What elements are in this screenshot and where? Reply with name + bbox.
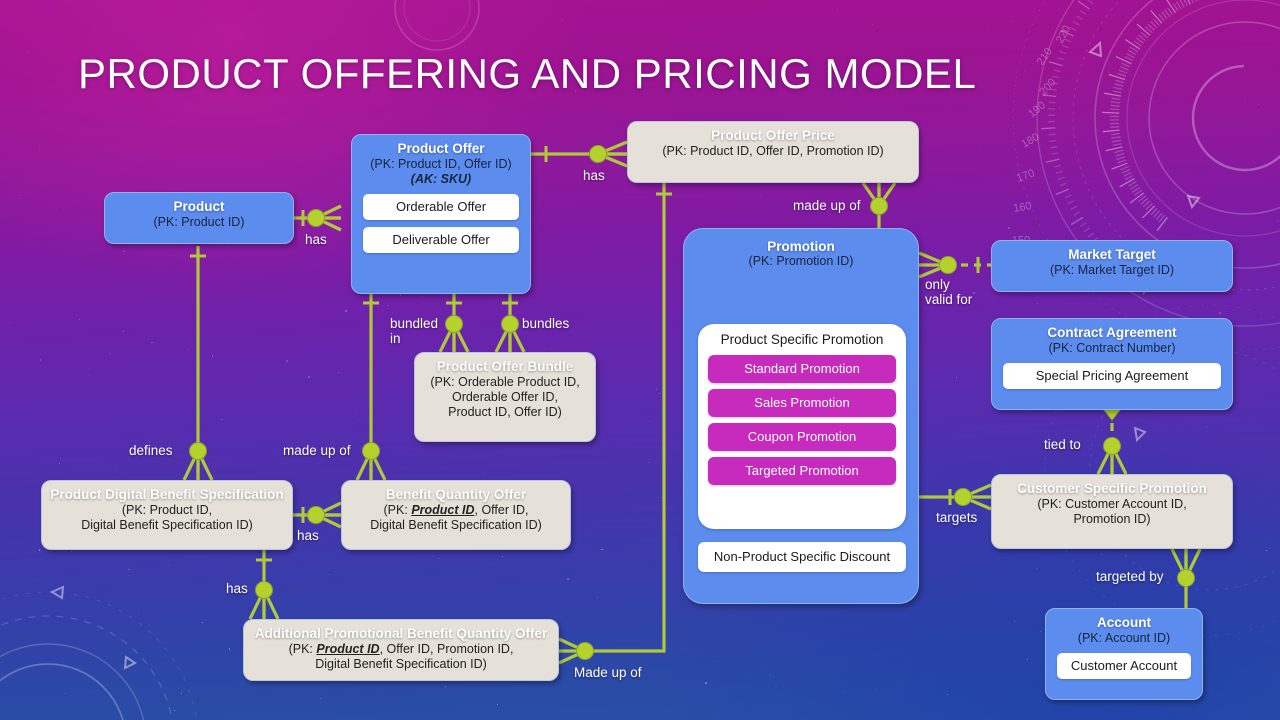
subtype-customer-account[interactable]: Customer Account: [1057, 653, 1191, 679]
product-specific-promotion-title: Product Specific Promotion: [708, 331, 896, 349]
entity-product-offer-bundle[interactable]: Product Offer Bundle (PK: Orderable Prod…: [414, 352, 596, 442]
entity-pdbs-key-2: Digital Benefit Specification ID): [50, 518, 284, 533]
entity-product-offer-price[interactable]: Product Offer Price (PK: Product ID, Off…: [627, 121, 919, 183]
compass-degree-labels: 220 210 200 190 180 170 160 150: [1012, 24, 1074, 247]
entity-customer-specific-promotion-key-1: (PK: Customer Account ID,: [1000, 497, 1224, 512]
entity-contract-agreement-key: (PK: Contract Number): [1003, 341, 1221, 356]
rel-label-offer-made-up-of-bqo: made up of: [283, 443, 351, 458]
entity-product-digital-benefit-specification[interactable]: Product Digital Benefit Specification (P…: [41, 480, 293, 550]
diagram-canvas: 220 210 200 190 180 170 160 150 PRODUCT …: [0, 0, 1280, 720]
entity-product-title: Product: [113, 199, 285, 215]
promo-sales-promotion[interactable]: Sales Promotion: [708, 389, 896, 417]
entity-product-offer-price-title: Product Offer Price: [636, 128, 910, 144]
subtype-deliverable-offer[interactable]: Deliverable Offer: [363, 227, 519, 253]
rel-label-pdbs-has-bqo: has: [297, 528, 319, 543]
entity-customer-specific-promotion[interactable]: Customer Specific Promotion (PK: Custome…: [991, 474, 1233, 549]
rel-label-pdbs-has-apbqo: has: [226, 581, 248, 596]
entity-product-offer-bundle-key-1: (PK: Orderable Product ID,: [423, 375, 587, 390]
rel-label-targeted-by: targeted by: [1096, 569, 1164, 584]
rel-label-apbqo-made-up-of: Made up of: [574, 665, 642, 680]
rel-label-tied-to: tied to: [1044, 437, 1081, 452]
rel-label-price-made-up-of-promotion: made up of: [793, 198, 861, 213]
subtype-product-specific-promotion[interactable]: Product Specific Promotion Standard Prom…: [698, 324, 906, 529]
compass-graphic: [1013, 0, 1280, 350]
entity-market-target-title: Market Target: [1000, 247, 1224, 263]
entity-contract-agreement-title: Contract Agreement: [1003, 325, 1221, 341]
entity-customer-specific-promotion-key-2: Promotion ID): [1000, 512, 1224, 527]
entity-product-offer-title: Product Offer: [363, 141, 519, 157]
entity-market-target-key: (PK: Market Target ID): [1000, 263, 1224, 278]
entity-apbqo-key-2: Digital Benefit Specification ID): [252, 657, 550, 672]
entity-product-offer-price-key: (PK: Product ID, Offer ID, Promotion ID): [636, 144, 910, 159]
rel-label-only-valid-for: only valid for: [925, 277, 972, 307]
entity-product-offer-bundle-key-2: Orderable Offer ID,: [423, 390, 587, 405]
rel-label-bundled-in: bundled in: [390, 316, 438, 346]
entity-product-offer-key: (PK: Product ID, Offer ID): [363, 157, 519, 172]
subtype-orderable-offer[interactable]: Orderable Offer: [363, 194, 519, 220]
entity-bqo-key-suffix: , Offer ID,: [475, 503, 529, 517]
entity-apbqo-key-prefix: (PK:: [289, 642, 317, 656]
entity-pdbs-title: Product Digital Benefit Specification: [50, 487, 284, 503]
rel-label-targets: targets: [936, 510, 977, 525]
entity-account-key: (PK: Account ID): [1057, 631, 1191, 646]
entity-promotion-key: (PK: Promotion ID): [684, 254, 918, 268]
entity-market-target[interactable]: Market Target (PK: Market Target ID): [991, 240, 1233, 292]
entity-bqo-key-2: Digital Benefit Specification ID): [350, 518, 562, 533]
promo-coupon-promotion[interactable]: Coupon Promotion: [708, 423, 896, 451]
svg-text:170: 170: [1015, 167, 1036, 185]
entity-bqo-title: Benefit Quantity Offer: [350, 487, 562, 503]
svg-text:200: 200: [1037, 76, 1058, 98]
entity-product-offer-altkey: (AK: SKU): [363, 172, 519, 187]
entity-customer-specific-promotion-title: Customer Specific Promotion: [1000, 481, 1224, 497]
entity-account[interactable]: Account (PK: Account ID) Customer Accoun…: [1045, 608, 1203, 700]
entity-pdbs-key-1: (PK: Product ID,: [50, 503, 284, 518]
entity-apbqo-title: Additional Promotional Benefit Quantity …: [252, 626, 550, 642]
entity-additional-promotional-benefit-quantity-offer[interactable]: Additional Promotional Benefit Quantity …: [243, 619, 559, 681]
entity-account-title: Account: [1057, 615, 1191, 631]
promo-standard-promotion[interactable]: Standard Promotion: [708, 355, 896, 383]
svg-text:190: 190: [1026, 99, 1048, 120]
rel-label-bundles: bundles: [522, 316, 569, 331]
svg-text:220: 220: [1054, 24, 1073, 46]
entity-bqo-key-fk: Product ID: [411, 503, 474, 517]
entity-benefit-quantity-offer[interactable]: Benefit Quantity Offer (PK: Product ID, …: [341, 480, 571, 550]
entity-promotion-title: Promotion: [684, 239, 918, 254]
bottom-left-rings: [0, 592, 198, 720]
rel-label-defines: defines: [129, 443, 173, 458]
subtype-special-pricing-agreement[interactable]: Special Pricing Agreement: [1003, 363, 1221, 389]
entity-product-offer-bundle-key-3: Product ID, Offer ID): [423, 405, 587, 420]
entity-bqo-key-1: (PK: Product ID, Offer ID,: [350, 503, 562, 518]
svg-text:180: 180: [1020, 131, 1042, 151]
entity-product-offer-bundle-title: Product Offer Bundle: [423, 359, 587, 375]
entity-product[interactable]: Product (PK: Product ID): [104, 192, 294, 244]
rel-label-offer-has-price: has: [583, 168, 605, 183]
entity-product-offer[interactable]: Product Offer (PK: Product ID, Offer ID)…: [351, 134, 531, 294]
entity-product-key: (PK: Product ID): [113, 215, 285, 230]
entity-promotion[interactable]: Promotion (PK: Promotion ID) Product Spe…: [683, 228, 919, 604]
subtype-non-product-specific-discount[interactable]: Non-Product Specific Discount: [698, 542, 906, 572]
entity-apbqo-key-1: (PK: Product ID, Offer ID, Promotion ID,: [252, 642, 550, 657]
svg-text:210: 210: [1035, 46, 1055, 68]
entity-contract-agreement[interactable]: Contract Agreement (PK: Contract Number)…: [991, 318, 1233, 410]
entity-apbqo-key-fk: Product ID: [316, 642, 379, 656]
svg-text:160: 160: [1012, 200, 1032, 215]
promo-targeted-promotion[interactable]: Targeted Promotion: [708, 457, 896, 485]
entity-apbqo-key-suffix: , Offer ID, Promotion ID,: [380, 642, 514, 656]
entity-bqo-key-prefix: (PK:: [384, 503, 412, 517]
rel-label-product-has-offer: has: [305, 232, 327, 247]
page-title: PRODUCT OFFERING AND PRICING MODEL: [78, 50, 976, 98]
